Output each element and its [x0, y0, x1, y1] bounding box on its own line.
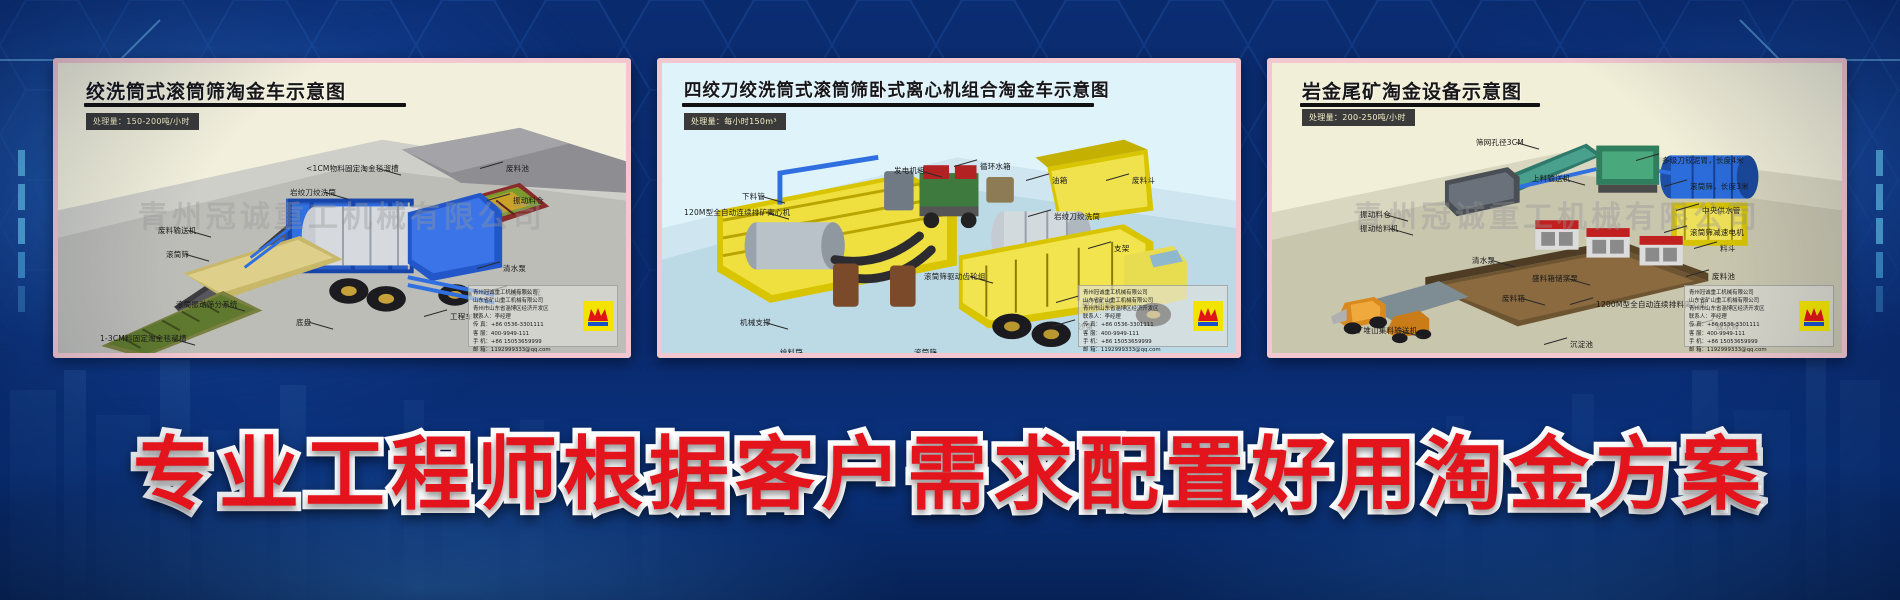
callout-label: 废料池: [1712, 271, 1735, 282]
contact-hotline: 客 服：400-9949-111: [1083, 330, 1193, 338]
callout-label: 料斗: [1720, 243, 1735, 254]
contact-address: 青州市山东省淄博区经济开发区: [473, 305, 583, 313]
callout-label: 滚筒筛驱动齿轮组: [924, 271, 986, 282]
contact-company-1: 青州冠诚重工机械有限公司: [1083, 289, 1193, 297]
contact-address: 青州市山东省淄博区经济开发区: [1689, 305, 1799, 313]
diagram-panel-1[interactable]: 青州冠诚重工机械有限公司 绞洗筒式滚筒筛淘金车示意图 处理量：150-200吨/…: [53, 58, 631, 358]
contact-person: 联系人：李经理: [1689, 313, 1799, 321]
company-logo-icon: [1193, 301, 1223, 331]
contact-company-2: 山东省矿山重工机械有限公司: [473, 297, 583, 305]
panel-1-title-underline: [84, 103, 406, 107]
headline-area: 专业工程师根据客户需求配置好用淘金方案 专业工程师根据客户需求配置好用淘金方案: [0, 380, 1900, 555]
panel-2-contact-box: 青州冠诚重工机械有限公司 山东省矿山重工机械有限公司 青州市山东省淄博区经济开发…: [1078, 285, 1228, 347]
callout-label: 滚筒振动筛分系统: [176, 299, 238, 310]
callout-label: 油箱: [1052, 175, 1067, 186]
contact-mobile: 手 机：+86 15053659999: [1083, 338, 1193, 346]
contact-hotline: 客 服：400-9949-111: [1689, 330, 1799, 338]
panel-1-title: 绞洗筒式滚筒筛淘金车示意图: [86, 77, 346, 104]
callout-label: 废料池: [506, 163, 529, 174]
contact-email: 邮 箱：1192999333@qq.com: [1083, 346, 1193, 354]
callout-label: 120M型全自动连续排矿离心机: [684, 207, 790, 218]
callout-label: 滚筒筛，长度3米: [1690, 181, 1749, 192]
panel-2-capacity-tag: 处理量：每小时150m³: [684, 113, 786, 130]
contact-fax: 传 真：+86 0536-3301111: [1083, 321, 1193, 329]
contact-company-2: 山东省矿山重工机械有限公司: [1689, 297, 1799, 305]
contact-address: 青州市山东省淄博区经济开发区: [1083, 305, 1193, 313]
contact-company-1: 青州冠诚重工机械有限公司: [473, 289, 583, 297]
contact-email: 邮 箱：1192999333@qq.com: [473, 346, 583, 354]
callout-label: 循环水箱: [980, 161, 1011, 172]
callout-label: 沉淀池: [1570, 339, 1593, 350]
callout-label: 岩绞刀绞洗筒: [1054, 211, 1100, 222]
callout-label: 支架: [1114, 243, 1129, 254]
diagram-panel-3[interactable]: 青州冠诚重工机械有限公司 岩金尾矿淘金设备示意图 处理量：200-250吨/小时…: [1267, 58, 1847, 358]
contact-person: 联系人：李经理: [1083, 313, 1193, 321]
diagram-panel-2[interactable]: 四绞刀绞洗筒式滚筒筛卧式离心机组合淘金车示意图 处理量：每小时150m³ 发电机…: [657, 58, 1241, 358]
panel-3-title-underline: [1300, 103, 1540, 107]
contact-fax: 传 真：+86 0536-3301111: [1689, 321, 1799, 329]
callout-label: 废料斗: [1132, 175, 1155, 186]
headline-text: 专业工程师根据客户需求配置好用淘金方案: [133, 410, 1767, 526]
contact-company-2: 山东省矿山重工机械有限公司: [1083, 297, 1193, 305]
callout-label: <1CM物料固定淘金毯溜槽: [306, 163, 399, 174]
diagram-panel-row: 青州冠诚重工机械有限公司 绞洗筒式滚筒筛淘金车示意图 处理量：150-200吨/…: [0, 58, 1900, 364]
panel-2-title: 四绞刀绞洗筒式滚筒筛卧式离心机组合淘金车示意图: [684, 77, 1110, 102]
contact-hotline: 客 服：400-9949-111: [473, 330, 583, 338]
panel-3-capacity-tag: 处理量：200-250吨/小时: [1302, 109, 1415, 126]
promo-banner: 青州冠诚重工机械有限公司 绞洗筒式滚筒筛淘金车示意图 处理量：150-200吨/…: [0, 0, 1900, 600]
contact-mobile: 手 机：+86 15053659999: [473, 338, 583, 346]
callout-label: 多级刀铰泥胃，长度4米: [1662, 155, 1744, 166]
panel-1-capacity-tag: 处理量：150-200吨/小时: [86, 113, 199, 130]
panel-2-title-underline: [682, 103, 1094, 107]
callout-label: 尾矿堆山集料输送机: [1348, 325, 1417, 336]
callout-label: 中央供水管: [1702, 205, 1741, 216]
contact-mobile: 手 机：+86 15053659999: [1689, 338, 1799, 346]
callout-label: 滚筒筛减速电机: [1690, 227, 1744, 238]
company-logo-icon: [1799, 301, 1829, 331]
contact-fax: 传 真：+86 0536-3301111: [473, 321, 583, 329]
callout-label: 振动料仓: [513, 195, 544, 206]
panel-1-contact-box: 青州冠诚重工机械有限公司 山东省矿山重工机械有限公司 青州市山东省淄博区经济开发…: [468, 285, 618, 347]
panel-3-contact-box: 青州冠诚重工机械有限公司 山东省矿山重工机械有限公司 青州市山东省淄博区经济开发…: [1684, 285, 1834, 347]
company-logo-icon: [583, 301, 613, 331]
panel-3-title: 岩金尾矿淘金设备示意图: [1302, 77, 1522, 104]
contact-company-1: 青州冠诚重工机械有限公司: [1689, 289, 1799, 297]
contact-email: 邮 箱：1192999333@qq.com: [1689, 346, 1799, 354]
callout-label: 清水泵: [503, 263, 526, 274]
contact-person: 联系人：李经理: [473, 313, 583, 321]
